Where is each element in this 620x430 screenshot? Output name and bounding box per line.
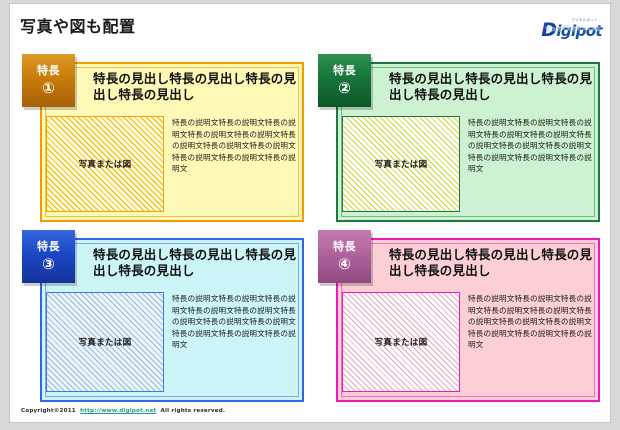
panel-body-text-4: 特長の説明文特長の説明文特長の説明文特長の説明文特長の説明文特長の説明文特長の説… bbox=[468, 292, 592, 392]
photo-placeholder-1[interactable]: 写真または図 bbox=[46, 116, 164, 212]
panel-content-3: 写真または図 特長の説明文特長の説明文特長の説明文特長の説明文特長の説明文特長の… bbox=[46, 292, 296, 392]
panel-content-2: 写真または図 特長の説明文特長の説明文特長の説明文特長の説明文特長の説明文特長の… bbox=[342, 116, 592, 212]
panel-badge-1: 特長 ① bbox=[22, 54, 75, 107]
panel-body-text-2: 特長の説明文特長の説明文特長の説明文特長の説明文特長の説明文特長の説明文特長の説… bbox=[468, 116, 592, 212]
badge-number-2: ② bbox=[338, 81, 351, 96]
photo-placeholder-2[interactable]: 写真または図 bbox=[342, 116, 460, 212]
panel-heading-1: 特長の見出し特長の見出し特長の見出し特長の見出し bbox=[93, 65, 298, 108]
photo-placeholder-3[interactable]: 写真または図 bbox=[46, 292, 164, 392]
page-title: 写真や図も配置 bbox=[20, 13, 136, 37]
panel-heading-2: 特長の見出し特長の見出し特長の見出し特長の見出し bbox=[389, 65, 594, 108]
panel-header-2: 特長の見出し特長の見出し特長の見出し特長の見出し bbox=[336, 62, 600, 110]
feature-panel-2[interactable]: 特長の見出し特長の見出し特長の見出し特長の見出し 特長 ② 写真または図 特長の… bbox=[318, 54, 600, 222]
badge-label-3: 特長 bbox=[37, 241, 60, 252]
panel-header-4: 特長の見出し特長の見出し特長の見出し特長の見出し bbox=[336, 238, 600, 286]
panel-heading-3: 特長の見出し特長の見出し特長の見出し特長の見出し bbox=[93, 241, 298, 284]
photo-placeholder-4[interactable]: 写真または図 bbox=[342, 292, 460, 392]
photo-placeholder-label-3: 写真または図 bbox=[79, 336, 132, 348]
panel-badge-2: 特長 ② bbox=[318, 54, 371, 107]
footer-website-link[interactable]: http://www.digipot.net bbox=[80, 408, 156, 414]
badge-label-2: 特長 bbox=[333, 65, 356, 76]
photo-placeholder-label-1: 写真または図 bbox=[79, 158, 132, 170]
footer-copyright: Copyright©2011 http://www.digipot.net Al… bbox=[20, 408, 226, 414]
badge-label-4: 特長 bbox=[333, 241, 356, 252]
badge-number-1: ① bbox=[42, 81, 55, 96]
digipot-logo: デジタルポット Digipot Digipot bbox=[526, 10, 604, 36]
feature-panel-1[interactable]: 特長の見出し特長の見出し特長の見出し特長の見出し 特長 ① 写真または図 特長の… bbox=[22, 54, 304, 222]
footer-suffix: All rights reserved. bbox=[161, 408, 226, 414]
feature-panels: 特長の見出し特長の見出し特長の見出し特長の見出し 特長 ① 写真または図 特長の… bbox=[22, 54, 600, 402]
slide-canvas: 写真や図も配置 デジタルポット Digipot Digipot 特長の見出し特長… bbox=[10, 4, 610, 422]
panel-content-4: 写真または図 特長の説明文特長の説明文特長の説明文特長の説明文特長の説明文特長の… bbox=[342, 292, 592, 392]
panel-body-text-1: 特長の説明文特長の説明文特長の説明文特長の説明文特長の説明文特長の説明文特長の説… bbox=[172, 116, 296, 212]
badge-number-4: ④ bbox=[338, 257, 351, 272]
panel-badge-4: 特長 ④ bbox=[318, 230, 371, 283]
footer-prefix: Copyright©2011 bbox=[21, 408, 76, 414]
badge-label-1: 特長 bbox=[37, 65, 60, 76]
panel-badge-3: 特長 ③ bbox=[22, 230, 75, 283]
panel-content-1: 写真または図 特長の説明文特長の説明文特長の説明文特長の説明文特長の説明文特長の… bbox=[46, 116, 296, 212]
badge-number-3: ③ bbox=[42, 257, 55, 272]
feature-panel-3[interactable]: 特長の見出し特長の見出し特長の見出し特長の見出し 特長 ③ 写真または図 特長の… bbox=[22, 230, 304, 402]
photo-placeholder-label-2: 写真または図 bbox=[375, 158, 428, 170]
feature-panel-4[interactable]: 特長の見出し特長の見出し特長の見出し特長の見出し 特長 ④ 写真または図 特長の… bbox=[318, 230, 600, 402]
logo-reflection: Digipot bbox=[545, 25, 603, 33]
photo-placeholder-label-4: 写真または図 bbox=[375, 336, 428, 348]
panel-heading-4: 特長の見出し特長の見出し特長の見出し特長の見出し bbox=[389, 241, 594, 284]
panel-header-1: 特長の見出し特長の見出し特長の見出し特長の見出し bbox=[40, 62, 304, 110]
panel-body-text-3: 特長の説明文特長の説明文特長の説明文特長の説明文特長の説明文特長の説明文特長の説… bbox=[172, 292, 296, 392]
panel-header-3: 特長の見出し特長の見出し特長の見出し特長の見出し bbox=[40, 238, 304, 286]
